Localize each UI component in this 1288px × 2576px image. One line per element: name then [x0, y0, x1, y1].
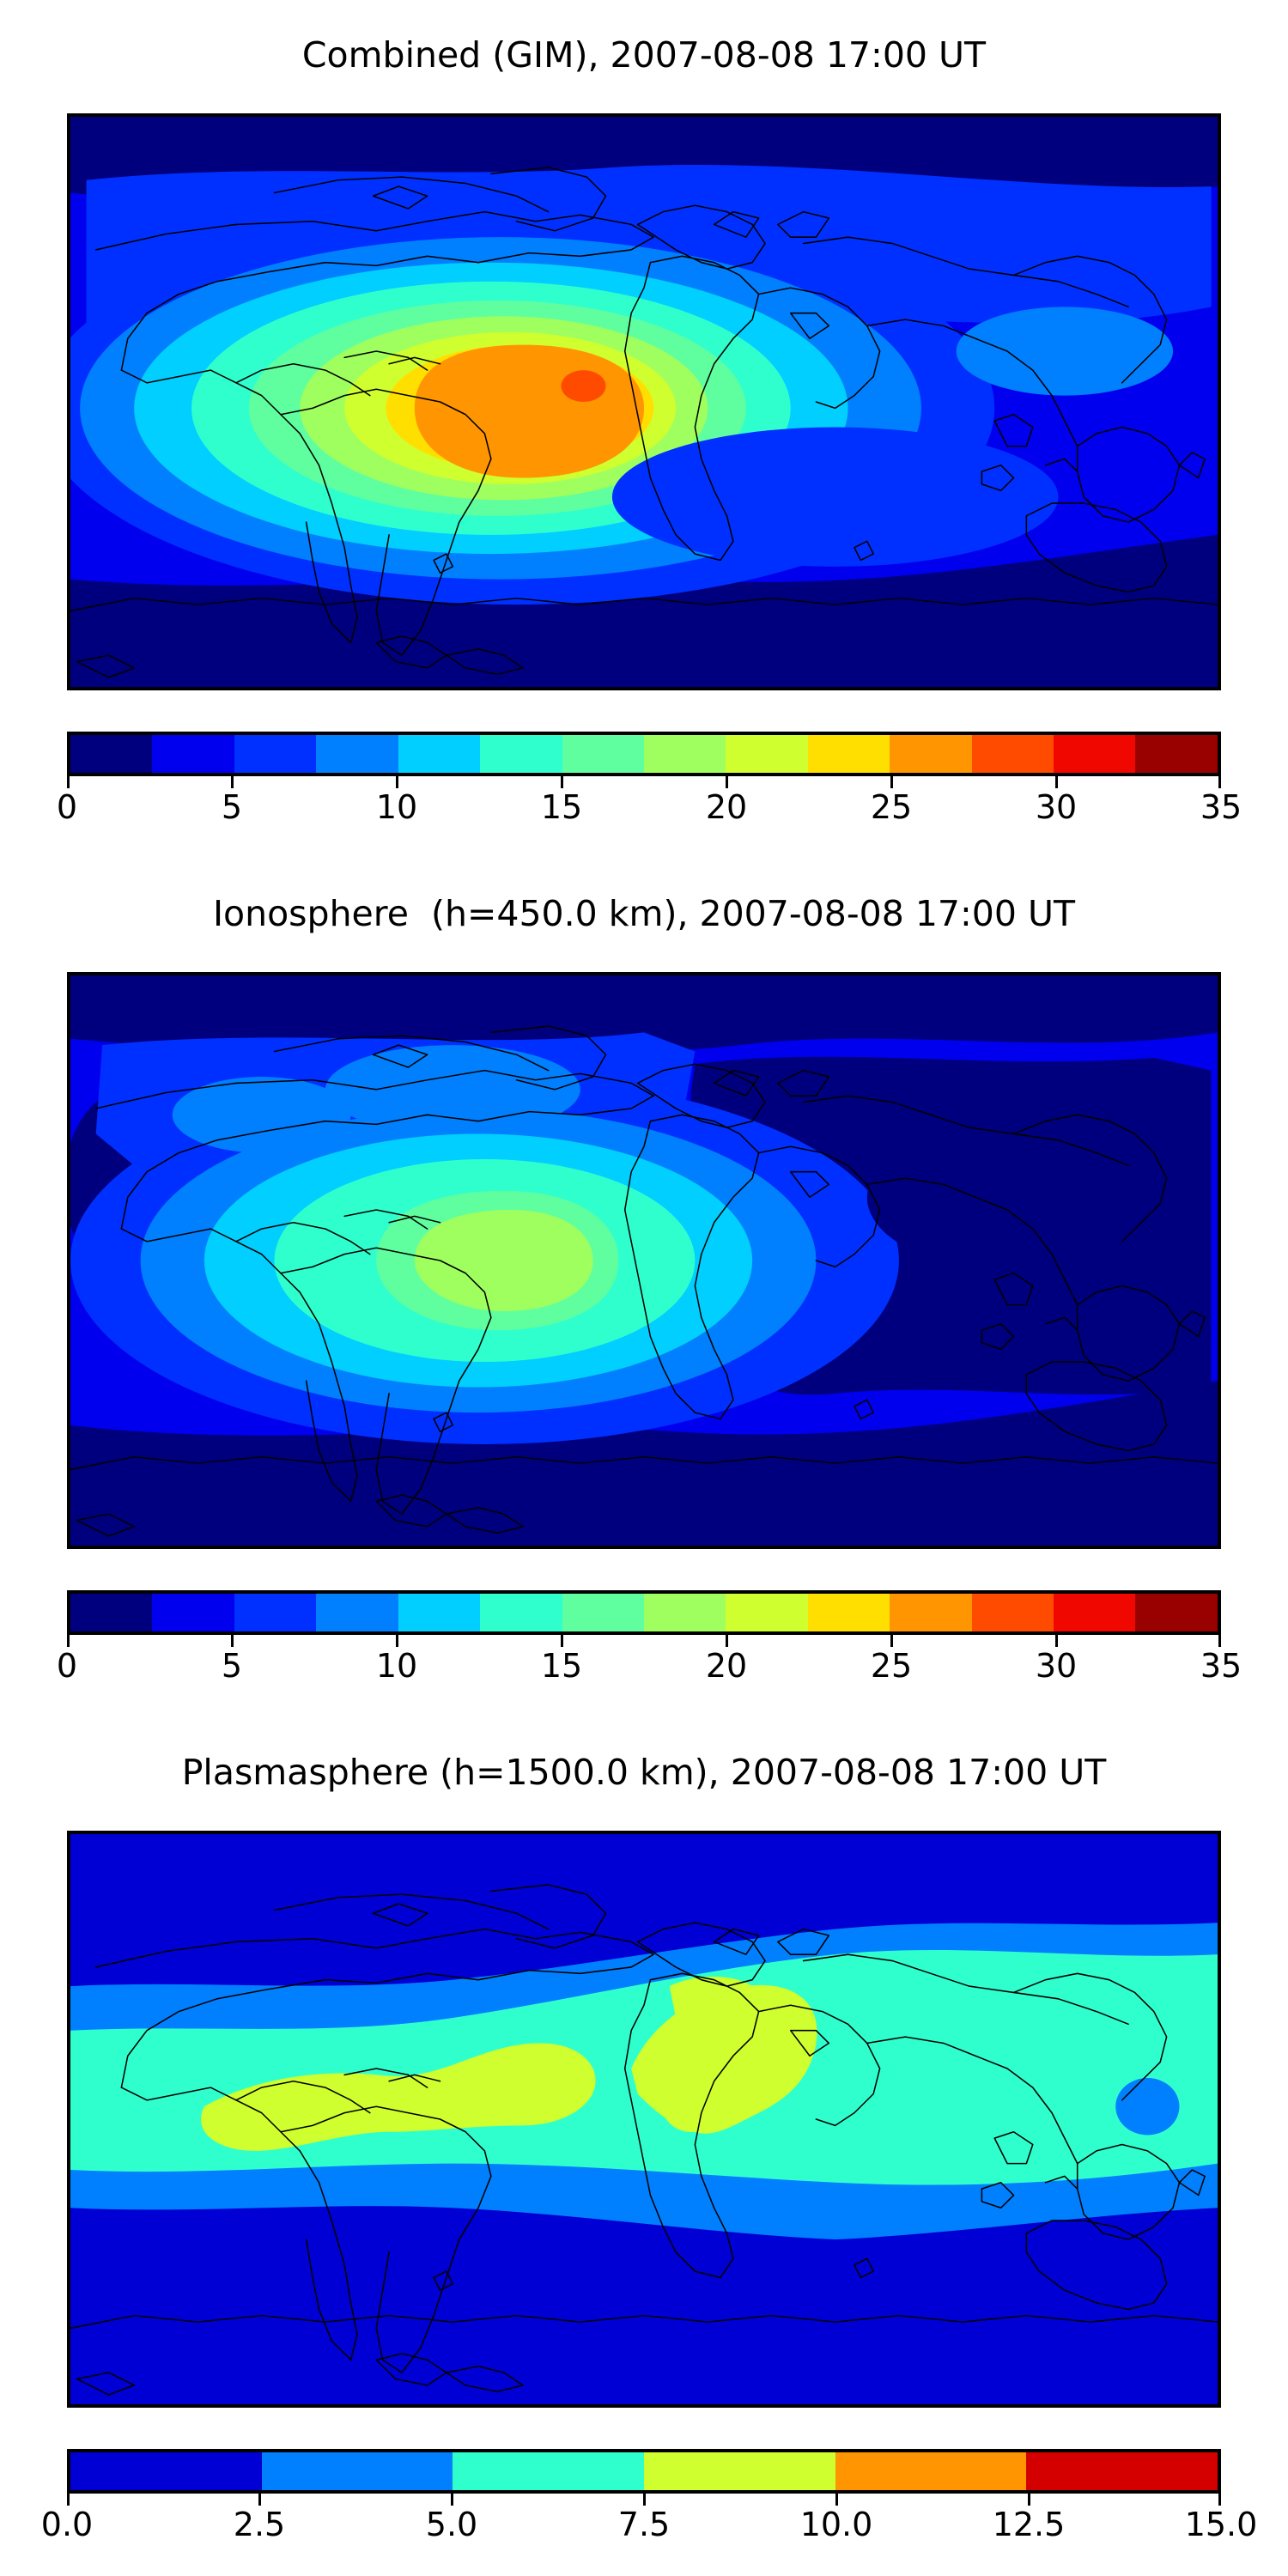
contour-map [70, 975, 1218, 1546]
colorbar-band [70, 2452, 262, 2490]
map-axes[interactable] [67, 972, 1221, 1549]
colorbar-band [1054, 735, 1135, 773]
colorbar-band [808, 735, 890, 773]
map-axes[interactable] [67, 1831, 1221, 2408]
map-axes[interactable] [67, 113, 1221, 690]
colorbar[interactable]: 05101520253035 [67, 732, 1221, 783]
colorbar-tick-label: 0 [57, 788, 77, 826]
contour-fills [70, 1834, 1218, 2404]
panel-title: Combined (GIM), 2007-08-08 17:00 UT [0, 34, 1288, 76]
colorbar-tick [1218, 776, 1221, 788]
colorbar-band [398, 1594, 480, 1631]
colorbar-band [1135, 735, 1217, 773]
colorbar-band [70, 1594, 152, 1631]
contour-fills [70, 117, 1218, 687]
colorbar-band [726, 735, 807, 773]
colorbar-tick-label: 0 [57, 1647, 77, 1685]
colorbar-band [152, 1594, 234, 1631]
colorbar-tick-label: 25 [871, 1647, 912, 1685]
colorbar-tick-label: 35 [1200, 788, 1242, 826]
colorbar-tick-labels: 0.02.55.07.510.012.515.0 [67, 2506, 1221, 2549]
colorbar-gradient [67, 2449, 1221, 2494]
colorbar-band [1135, 1594, 1217, 1631]
colorbar-band [1026, 2452, 1218, 2490]
colorbar-tick-label: 20 [706, 1647, 747, 1685]
colorbar-tick [643, 2494, 646, 2506]
colorbar-tick-label: 5 [222, 1647, 242, 1685]
colorbar-tick-label: 15 [541, 1647, 582, 1685]
colorbar-tick [67, 2494, 70, 2506]
colorbar-tick-label: 15.0 [1185, 2506, 1258, 2543]
colorbar-tick [561, 1635, 563, 1647]
colorbar-tick [835, 2494, 838, 2506]
colorbar-tick [561, 776, 563, 788]
contour-map [70, 1834, 1218, 2404]
colorbar-tick-label: 0.0 [41, 2506, 93, 2543]
colorbar-tick-label: 12.5 [993, 2506, 1066, 2543]
colorbar-tick-labels: 05101520253035 [67, 788, 1221, 831]
colorbar-tick [396, 776, 398, 788]
colorbar-tick-label: 35 [1200, 1647, 1242, 1685]
colorbar-tick-label: 7.5 [618, 2506, 670, 2543]
colorbar-band [562, 1594, 644, 1631]
colorbar[interactable]: 05101520253035 [67, 1590, 1221, 1642]
colorbar-tick [1055, 1635, 1058, 1647]
colorbar-band [890, 1594, 971, 1631]
colorbar-band [316, 1594, 398, 1631]
colorbar-band [70, 735, 152, 773]
colorbar-band [234, 735, 316, 773]
colorbar-tick [231, 1635, 234, 1647]
colorbar-tick [726, 1635, 728, 1647]
colorbar-tick [1218, 2494, 1221, 2506]
colorbar-tick [1218, 1635, 1221, 1647]
colorbar-band [562, 735, 644, 773]
colorbar-tick-label: 20 [706, 788, 747, 826]
panel-combined-gim: Combined (GIM), 2007-08-08 17:00 UT [0, 0, 1288, 859]
colorbar-gradient [67, 732, 1221, 776]
tec-map-figure: Combined (GIM), 2007-08-08 17:00 UT [0, 0, 1288, 2576]
colorbar-band [890, 735, 971, 773]
colorbar-band [972, 1594, 1054, 1631]
colorbar-tick [1028, 2494, 1030, 2506]
colorbar-tick-label: 30 [1036, 788, 1077, 826]
colorbar-tick [396, 1635, 398, 1647]
colorbar-band [808, 1594, 890, 1631]
colorbar-band [262, 2452, 453, 2490]
colorbar[interactable]: 0.02.55.07.510.012.515.0 [67, 2449, 1221, 2500]
colorbar-band [835, 2452, 1027, 2490]
colorbar-tick [67, 776, 70, 788]
colorbar-band [234, 1594, 316, 1631]
colorbar-band [316, 735, 398, 773]
colorbar-tick [890, 1635, 893, 1647]
colorbar-tick [67, 1635, 70, 1647]
colorbar-tick-label: 10 [376, 788, 417, 826]
contour-fills [70, 975, 1218, 1546]
colorbar-gradient [67, 1590, 1221, 1635]
colorbar-tick-label: 5 [222, 788, 242, 826]
colorbar-tick [726, 776, 728, 788]
colorbar-tick [258, 2494, 261, 2506]
colorbar-tick-label: 10 [376, 1647, 417, 1685]
colorbar-tick-label: 15 [541, 788, 582, 826]
colorbar-tick-label: 5.0 [426, 2506, 477, 2543]
panel-title: Ionosphere (h=450.0 km), 2007-08-08 17:0… [0, 893, 1288, 934]
colorbar-band [726, 1594, 807, 1631]
colorbar-band [972, 735, 1054, 773]
colorbar-tick-labels: 05101520253035 [67, 1647, 1221, 1690]
panel-title: Plasmasphere (h=1500.0 km), 2007-08-08 1… [0, 1752, 1288, 1793]
panel-ionosphere: Ionosphere (h=450.0 km), 2007-08-08 17:0… [0, 859, 1288, 1717]
colorbar-band [453, 2452, 644, 2490]
colorbar-band [1054, 1594, 1135, 1631]
colorbar-tick-label: 10.0 [800, 2506, 873, 2543]
panel-plasmasphere: Plasmasphere (h=1500.0 km), 2007-08-08 1… [0, 1717, 1288, 2576]
contour-map [70, 117, 1218, 687]
colorbar-tick-label: 30 [1036, 1647, 1077, 1685]
colorbar-band [644, 1594, 726, 1631]
colorbar-tick [231, 776, 234, 788]
colorbar-band [644, 2452, 835, 2490]
colorbar-band [480, 1594, 562, 1631]
colorbar-band [644, 735, 726, 773]
colorbar-band [152, 735, 234, 773]
colorbar-tick [890, 776, 893, 788]
colorbar-band [480, 735, 562, 773]
colorbar-band [398, 735, 480, 773]
colorbar-tick [1055, 776, 1058, 788]
colorbar-tick-label: 2.5 [234, 2506, 285, 2543]
colorbar-tick [451, 2494, 453, 2506]
colorbar-tick-label: 25 [871, 788, 912, 826]
